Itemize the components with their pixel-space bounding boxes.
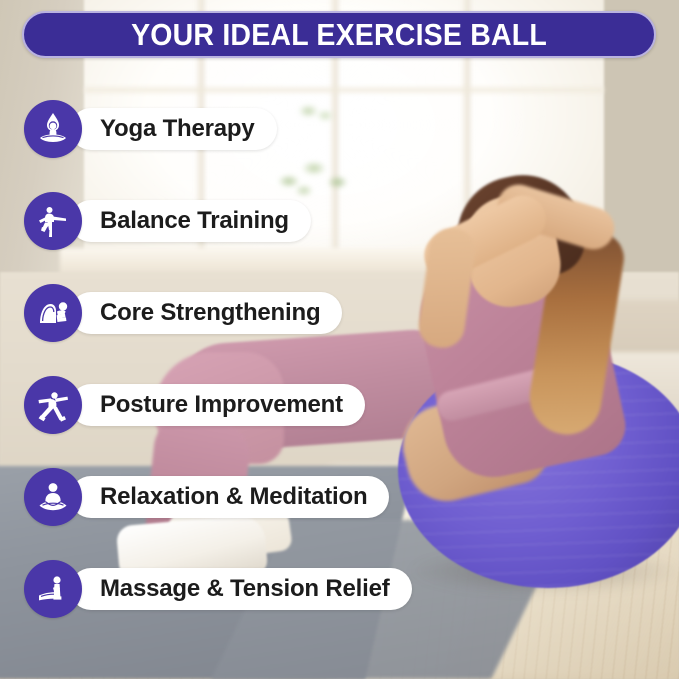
warrior-pose-icon xyxy=(24,376,82,434)
feature-label: Balance Training xyxy=(100,207,289,235)
feature-item-balance-training[interactable]: Balance Training xyxy=(24,192,311,250)
feature-label-pill: Yoga Therapy xyxy=(70,108,277,150)
feature-item-posture-improvement[interactable]: Posture Improvement xyxy=(24,376,365,434)
feature-label-pill: Relaxation & Meditation xyxy=(70,476,389,518)
feature-label-pill: Core Strengthening xyxy=(70,292,342,334)
feature-item-core-strengthening[interactable]: Core Strengthening xyxy=(24,284,342,342)
meditation-lotus-icon xyxy=(24,468,82,526)
feature-label: Posture Improvement xyxy=(100,391,343,419)
infographic-overlay: YOUR IDEAL EXERCISE BALL Yoga Thera xyxy=(0,0,679,679)
feature-item-relaxation-meditation[interactable]: Relaxation & Meditation xyxy=(24,468,389,526)
massage-stretch-icon xyxy=(24,560,82,618)
yoga-lotus-arms-up-icon xyxy=(24,100,82,158)
core-exercise-ball-icon xyxy=(24,284,82,342)
feature-label-pill: Balance Training xyxy=(70,200,311,242)
feature-list: Yoga Therapy xyxy=(0,0,679,679)
feature-label: Yoga Therapy xyxy=(100,115,255,143)
feature-label: Massage & Tension Relief xyxy=(100,575,390,603)
feature-label: Core Strengthening xyxy=(100,299,320,327)
feature-label-pill: Massage & Tension Relief xyxy=(70,568,412,610)
feature-item-massage-tension-relief[interactable]: Massage & Tension Relief xyxy=(24,560,412,618)
feature-item-yoga-therapy[interactable]: Yoga Therapy xyxy=(24,100,277,158)
balance-standing-pose-icon xyxy=(24,192,82,250)
feature-label-pill: Posture Improvement xyxy=(70,384,365,426)
feature-label: Relaxation & Meditation xyxy=(100,483,367,511)
